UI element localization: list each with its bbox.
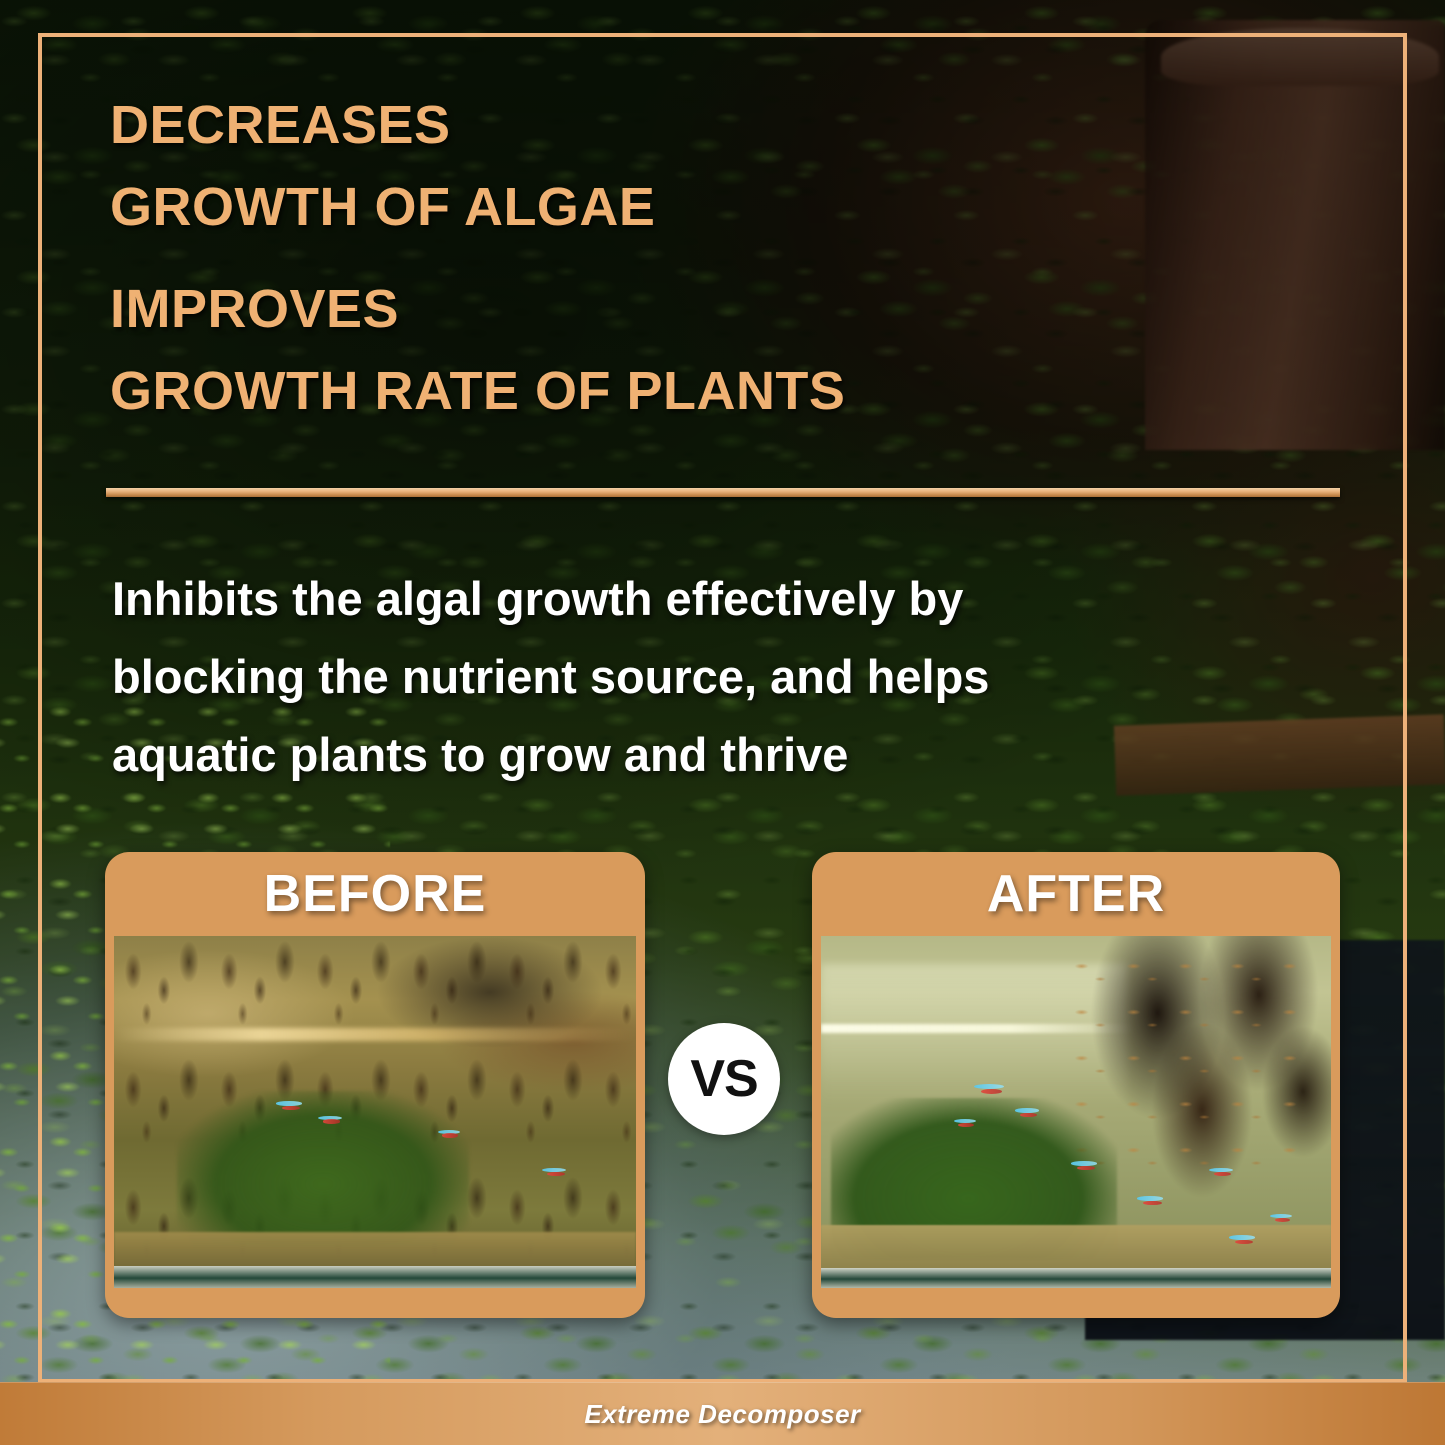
fish-icon xyxy=(438,1130,460,1138)
headline-line-2: GROWTH OF ALGAE xyxy=(110,166,1270,248)
before-card: BEFORE xyxy=(105,852,645,1318)
before-card-title: BEFORE xyxy=(105,852,645,936)
brand-name: Extreme Decomposer xyxy=(584,1399,860,1430)
after-card: AFTER xyxy=(812,852,1340,1318)
description-line-2: blocking the nutrient source, and helps xyxy=(112,638,1312,716)
tank-bottom-rim xyxy=(114,1266,636,1288)
headline-line-1: DECREASES xyxy=(110,84,1270,166)
fish-icon xyxy=(1270,1214,1292,1222)
fish-icon xyxy=(542,1168,566,1176)
fish-icon xyxy=(1071,1161,1097,1170)
dirty-tank-water xyxy=(114,936,636,1288)
description-line-1: Inhibits the algal growth effectively by xyxy=(112,560,1312,638)
headline-spacer xyxy=(110,248,1270,268)
clean-tank-water xyxy=(821,936,1331,1288)
plant-mass xyxy=(177,1091,469,1246)
vs-badge: VS xyxy=(668,1023,780,1135)
after-aquarium-photo xyxy=(821,936,1331,1288)
fish-icon xyxy=(1229,1235,1255,1244)
fish-icon xyxy=(954,1119,976,1127)
tank-light-reflection xyxy=(114,1028,636,1041)
description-text: Inhibits the algal growth effectively by… xyxy=(112,560,1312,794)
before-aquarium-photo xyxy=(114,936,636,1288)
headline-line-4: GROWTH RATE OF PLANTS xyxy=(110,350,1270,432)
gold-divider-rule xyxy=(106,488,1340,497)
headline-line-3: IMPROVES xyxy=(110,268,1270,350)
fish-icon xyxy=(974,1084,1004,1094)
fish-icon xyxy=(318,1116,342,1124)
description-line-3: aquatic plants to grow and thrive xyxy=(112,716,1312,794)
footer-bar: Extreme Decomposer xyxy=(0,1382,1445,1445)
product-feature-image: DECREASES GROWTH OF ALGAE IMPROVES GROWT… xyxy=(0,0,1445,1445)
page-title: DECREASES GROWTH OF ALGAE IMPROVES GROWT… xyxy=(110,84,1270,432)
after-card-title: AFTER xyxy=(812,852,1340,936)
tank-bottom-rim xyxy=(821,1268,1331,1288)
